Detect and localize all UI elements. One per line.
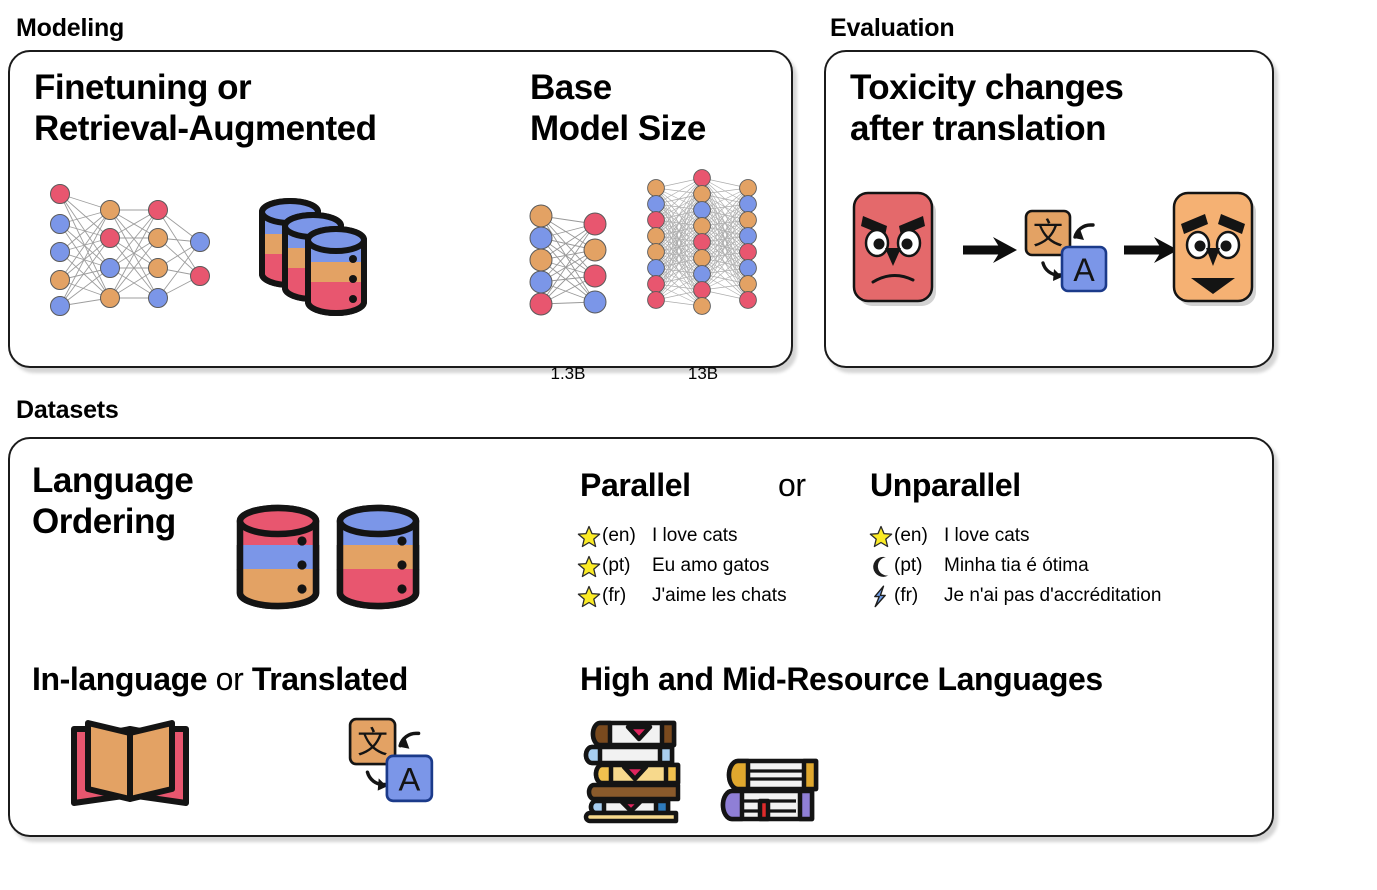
example-text: I love cats: [644, 525, 738, 547]
star-icon: [576, 524, 602, 548]
large-neural-network-icon: [640, 170, 765, 322]
language-code: (fr): [602, 585, 644, 607]
list-item: (en) I love cats: [868, 521, 1161, 551]
angry-face-icon: [852, 190, 940, 308]
example-text: Minha tia é ótima: [936, 555, 1089, 577]
happy-face-icon: [1172, 190, 1260, 308]
translate-icon: 文 A: [1022, 207, 1112, 297]
conjunction-or: or: [216, 661, 244, 697]
unparallel-example-list: (en) I love cats (pt) Minha tia é ótima: [868, 521, 1161, 611]
lightning-bolt-icon: [868, 584, 894, 608]
language-code: (pt): [894, 555, 936, 577]
heading-base-model-size: Base Model Size: [530, 68, 706, 149]
example-text: Je n'ai pas d'accréditation: [936, 585, 1161, 607]
title-in-language: In-language: [32, 661, 207, 697]
heading-source-type: In-language or Translated: [32, 661, 408, 698]
section-label-modeling: Modeling: [16, 14, 124, 43]
network-label-13b: 13B: [655, 364, 751, 384]
small-neural-network-icon: [523, 202, 613, 320]
heading-toxicity: Toxicity changes after translation: [850, 68, 1123, 149]
list-item: (fr) Je n'ai pas d'accréditation: [868, 581, 1161, 611]
short-book-stack-icon: [720, 757, 822, 825]
star-icon: [868, 524, 894, 548]
list-item: (fr) J'aime les chats: [576, 581, 787, 611]
list-item: (pt) Minha tia é ótima: [868, 551, 1161, 581]
arrow-right-icon: [961, 235, 1019, 265]
language-code: (en): [894, 525, 936, 547]
title-unparallel: Unparallel: [870, 467, 1021, 504]
example-text: I love cats: [936, 525, 1030, 547]
database-pair-icon: [232, 501, 432, 616]
example-text: J'aime les chats: [644, 585, 787, 607]
tall-book-stack-icon: [582, 717, 692, 823]
language-code: (en): [602, 525, 644, 547]
list-item: (pt) Eu amo gatos: [576, 551, 787, 581]
star-icon: [576, 554, 602, 578]
conjunction-or: or: [778, 467, 806, 504]
panel-evaluation: Toxicity changes after translation: [824, 50, 1274, 368]
language-code: (pt): [602, 555, 644, 577]
heading-language-ordering: Language Ordering: [32, 461, 193, 542]
crescent-moon-icon: [868, 554, 894, 578]
network-label-1-3b: 1.3B: [523, 364, 613, 384]
neural-network-icon: [38, 180, 213, 320]
title-parallel: Parallel: [580, 467, 691, 504]
heading-resources: High and Mid-Resource Languages: [580, 661, 1103, 698]
database-stack-icon: [252, 190, 382, 320]
parallel-example-list: (en) I love cats (pt) Eu amo gatos: [576, 521, 787, 611]
panel-modeling: Finetuning or Retrieval-Augmented: [8, 50, 793, 368]
title-translated: Translated: [252, 661, 408, 697]
list-item: (en) I love cats: [576, 521, 787, 551]
star-icon: [576, 584, 602, 608]
svg-text:A: A: [398, 761, 420, 798]
language-code: (fr): [894, 585, 936, 607]
svg-text:文: 文: [1033, 217, 1063, 252]
section-label-evaluation: Evaluation: [830, 14, 954, 43]
translate-icon: 文 A: [346, 715, 438, 807]
heading-finetuning: Finetuning or Retrieval-Augmented: [34, 68, 377, 149]
example-text: Eu amo gatos: [644, 555, 769, 577]
section-label-datasets: Datasets: [16, 396, 119, 425]
svg-text:文: 文: [357, 726, 388, 761]
svg-text:A: A: [1073, 252, 1095, 288]
panel-datasets: Language Ordering: [8, 437, 1274, 837]
open-book-icon: [68, 715, 192, 811]
